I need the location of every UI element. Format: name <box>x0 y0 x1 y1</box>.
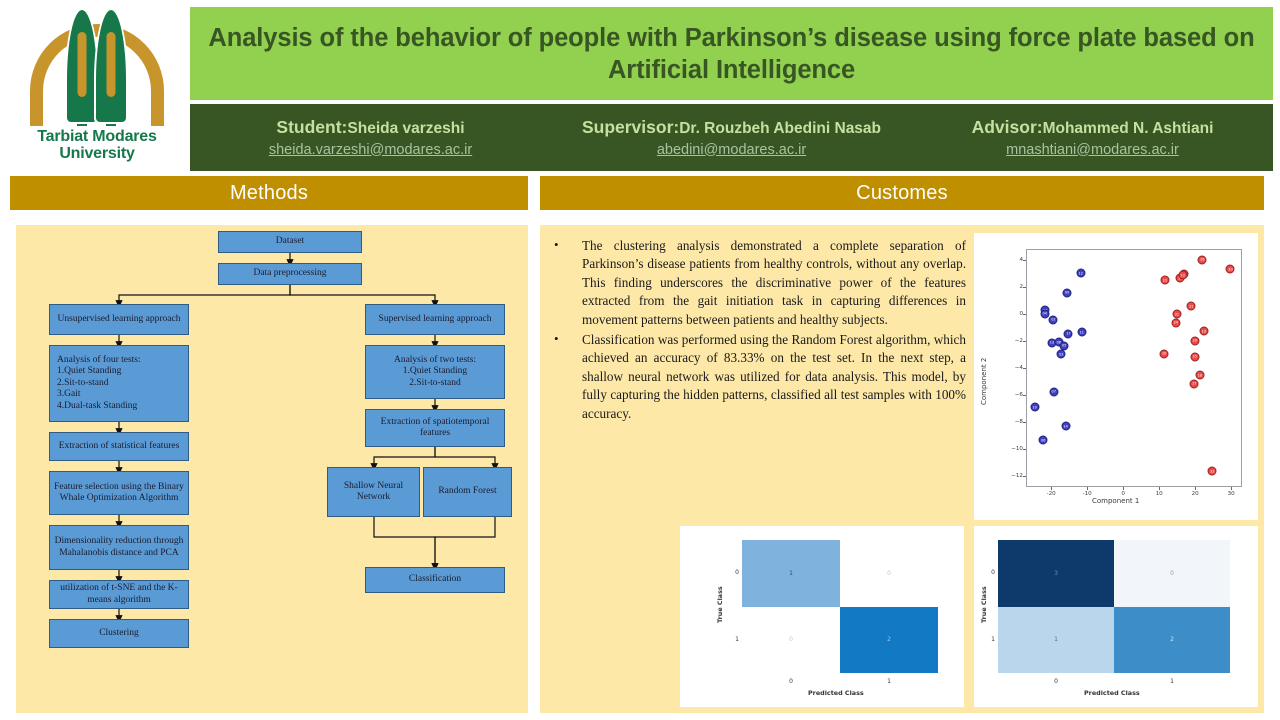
scatter-ytick-mark <box>1023 476 1026 477</box>
author-supervisor-email[interactable]: abedini@modares.ac.ir <box>555 140 908 160</box>
scatter-xtick-mark <box>1123 487 1124 490</box>
scatter-point: 09 <box>1063 288 1072 297</box>
flow-node-preprocessing-label: Data preprocessing <box>253 268 326 280</box>
scatter-point: 07 <box>1049 387 1058 396</box>
scatter-point: 04 <box>1040 309 1049 318</box>
flow-node-spatiotemporal-features[interactable]: Extraction of spatiotemporal features <box>365 409 505 447</box>
flow-node-shallow-neural-network-label: Shallow Neural Network <box>331 481 416 504</box>
flow-node-feature-selection-bwoa[interactable]: Feature selection using the Binary Whale… <box>49 471 189 515</box>
scatter-ylabel: Component 2 <box>980 358 988 405</box>
flow-node-clustering-label: Clustering <box>99 628 139 640</box>
author-supervisor-name: Dr. Rouzbeh Abedini <box>679 120 830 137</box>
scatter-point: 22 <box>1160 276 1169 285</box>
scatter-ytick-mark <box>1023 287 1026 288</box>
flow-node-preprocessing[interactable]: Data preprocessing <box>218 263 362 285</box>
scatter-point: 24 <box>1171 318 1180 327</box>
scatter-point: 29 <box>1190 336 1199 345</box>
scatter-ytick-mark <box>1023 395 1026 396</box>
section-header-methods-label: Methods <box>230 182 308 205</box>
authors-bar: Student:Sheida varzeshi sheida.varzeshi@… <box>190 104 1273 171</box>
page-title: Analysis of the behavior of people with … <box>207 22 1257 86</box>
flow-node-random-forest[interactable]: Random Forest <box>423 467 512 517</box>
scatter-point: 10 <box>1030 403 1039 412</box>
cm-ytick: 0 <box>730 569 739 576</box>
scatter-point: 03 <box>1057 350 1066 359</box>
scatter-xtick: -20 <box>1044 491 1058 497</box>
scatter-plot-card: Component 1 Component 2 -20-100102030420… <box>974 233 1258 520</box>
section-header-customes-label: Customes <box>856 182 948 205</box>
logo-text: Tarbiat Modares University <box>37 128 156 162</box>
scatter-xlabel: Component 1 <box>1092 497 1139 505</box>
scatter-ytick: −8 <box>1007 419 1023 425</box>
scatter-ytick-mark <box>1023 314 1026 315</box>
author-advisor-line: Advisor:Mohammed N. Ashtiani <box>916 116 1269 140</box>
customes-panel: The clustering analysis demonstrated a c… <box>540 225 1264 713</box>
cm-ytick: 0 <box>986 569 995 576</box>
cm1-ylabel: True Class <box>716 586 724 623</box>
logo-mark-icon <box>22 6 172 126</box>
flow-node-four-tests-line5: 4.Dual-task Standing <box>57 401 185 413</box>
cm-xtick: 0 <box>1051 678 1061 685</box>
flow-node-dataset-label: Dataset <box>276 236 305 248</box>
cm-cell: 0 <box>840 540 938 607</box>
author-advisor-email[interactable]: mnashtiani@modares.ac.ir <box>916 140 1269 160</box>
cm1-xlabel: Predicted Class <box>808 689 864 697</box>
author-advisor-name-suffix: N. Ashtiani <box>1129 120 1214 137</box>
flow-node-dimensionality-reduction-label: Dimensionality reduction through Mahalan… <box>53 536 185 559</box>
cm-cell: 1 <box>998 607 1114 674</box>
scatter-point: 30 <box>1226 265 1235 274</box>
cm2-xlabel: Predicted Class <box>1084 689 1140 697</box>
poster-title-bar: Analysis of the behavior of people with … <box>190 7 1273 100</box>
scatter-point: 17 <box>1190 379 1199 388</box>
scatter-ytick: 2 <box>1007 284 1023 290</box>
scatter-point: 23 <box>1178 271 1187 280</box>
scatter-ytick: −4 <box>1007 365 1023 371</box>
cm-xtick: 1 <box>884 678 894 685</box>
flow-node-dimensionality-reduction[interactable]: Dimensionality reduction through Mahalan… <box>49 525 189 570</box>
flow-node-supervised[interactable]: Supervised learning approach <box>365 304 505 335</box>
scatter-plot-frame <box>1026 249 1242 487</box>
scatter-point: 20 <box>1160 349 1169 358</box>
flow-node-clustering[interactable]: Clustering <box>49 619 189 648</box>
scatter-ytick: −12 <box>1007 473 1023 479</box>
finding-2-text: Classification was performed using the R… <box>582 332 966 421</box>
cm2-ylabel: True Class <box>980 586 988 623</box>
confusion-matrix-random-forest-card: 1002 0101 Predicted Class True Class <box>680 526 964 707</box>
methods-panel: Dataset Data preprocessing Unsupervised … <box>16 225 528 713</box>
cm-cell: 3 <box>998 540 1114 607</box>
scatter-xtick-mark <box>1195 487 1196 490</box>
flow-node-feature-selection-bwoa-label: Feature selection using the Binary Whale… <box>53 482 185 505</box>
author-advisor: Advisor:Mohammed N. Ashtiani mnashtiani@… <box>912 116 1273 160</box>
flow-node-two-tests-line2: 1.Quiet Standing <box>403 366 467 378</box>
scatter-xtick-mark <box>1051 487 1052 490</box>
flow-node-unsupervised-label: Unsupervised learning approach <box>58 314 181 326</box>
flow-node-random-forest-label: Random Forest <box>438 486 496 498</box>
author-supervisor-name-suffix: Nasab <box>830 120 881 137</box>
author-supervisor: Supervisor:Dr. Rouzbeh Abedini Nasab abe… <box>551 116 912 160</box>
scatter-ytick: 0 <box>1007 311 1023 317</box>
scatter-ytick: −10 <box>1007 446 1023 452</box>
cm-cell: 2 <box>840 607 938 674</box>
flow-node-supervised-label: Supervised learning approach <box>379 314 492 326</box>
author-supervisor-role: Supervisor: <box>582 117 679 137</box>
scatter-point: 26 <box>1198 255 1207 264</box>
logo-text-line1: Tarbiat Modares <box>37 128 156 145</box>
cm-ytick: 1 <box>730 636 739 643</box>
scatter-xtick: -10 <box>1080 491 1094 497</box>
scatter-ytick-mark <box>1023 449 1026 450</box>
scatter-point: 17 <box>1064 329 1073 338</box>
cm-cell: 0 <box>742 607 840 674</box>
scatter-ytick-mark <box>1023 422 1026 423</box>
tarbiat-modares-logo: Tarbiat Modares University <box>8 6 186 171</box>
flow-node-dataset[interactable]: Dataset <box>218 231 362 253</box>
author-student-email[interactable]: sheida.varzeshi@modares.ac.ir <box>194 140 547 160</box>
scatter-point: 32 <box>1208 467 1217 476</box>
logo-text-line2: University <box>37 145 156 162</box>
scatter-point: 25 <box>1190 352 1199 361</box>
cm-xtick: 1 <box>1167 678 1177 685</box>
finding-1-text: The clustering analysis demonstrated a c… <box>582 238 966 327</box>
section-header-customes: Customes <box>540 176 1264 210</box>
author-supervisor-line: Supervisor:Dr. Rouzbeh Abedini Nasab <box>555 116 908 140</box>
methodology-flowchart: Dataset Data preprocessing Unsupervised … <box>16 225 528 713</box>
author-advisor-role: Advisor: <box>972 117 1043 137</box>
flow-node-statistical-features-label: Extraction of statistical features <box>59 441 180 453</box>
flow-node-classification[interactable]: Classification <box>365 567 505 593</box>
flow-node-statistical-features[interactable]: Extraction of statistical features <box>49 432 189 461</box>
author-student-role: Student: <box>276 117 347 137</box>
flow-node-four-tests-line2: 1.Quiet Standing <box>57 366 185 378</box>
author-student-name: Sheida varzeshi <box>347 120 464 137</box>
scatter-point: 19 <box>1199 327 1208 336</box>
flow-node-tsne-kmeans-label: utilization of t-SNE and the K-means alg… <box>53 583 185 606</box>
scatter-point: 06 <box>1039 436 1048 445</box>
logo-wheat-right-icon <box>94 8 128 124</box>
scatter-ytick-mark <box>1023 341 1026 342</box>
list-item: The clustering analysis demonstrated a c… <box>548 237 966 329</box>
scatter-point: 18 <box>1195 371 1204 380</box>
scatter-point: 11 <box>1077 328 1086 337</box>
flow-node-spatiotemporal-features-label: Extraction of spatiotemporal features <box>369 417 501 440</box>
scatter-xtick-mark <box>1159 487 1160 490</box>
flow-node-two-tests-line1: Analysis of two tests: <box>394 355 476 367</box>
flow-node-shallow-neural-network[interactable]: Shallow Neural Network <box>327 467 420 517</box>
flow-node-two-tests-line3: 2.Sit-to-stand <box>409 378 460 390</box>
scatter-point: 14 <box>1061 422 1070 431</box>
flow-node-two-tests[interactable]: Analysis of two tests: 1.Quiet Standing … <box>365 345 505 399</box>
cm-cell: 1 <box>742 540 840 607</box>
list-item: Classification was performed using the R… <box>548 331 966 423</box>
scatter-xtick: 30 <box>1224 491 1238 497</box>
scatter-xtick: 0 <box>1116 491 1130 497</box>
section-header-methods: Methods <box>10 176 528 210</box>
cm-cell: 0 <box>1114 540 1230 607</box>
scatter-xtick-mark <box>1087 487 1088 490</box>
cm-cell: 2 <box>1114 607 1230 674</box>
scatter-ytick: −2 <box>1007 338 1023 344</box>
scatter-point: 12 <box>1076 269 1085 278</box>
scatter-ytick: 4 <box>1007 257 1023 263</box>
scatter-ytick: −6 <box>1007 392 1023 398</box>
scatter-xtick: 10 <box>1152 491 1166 497</box>
flow-node-tsne-kmeans[interactable]: utilization of t-SNE and the K-means alg… <box>49 580 189 609</box>
author-student: Student:Sheida varzeshi sheida.varzeshi@… <box>190 116 551 160</box>
flow-node-unsupervised[interactable]: Unsupervised learning approach <box>49 304 189 335</box>
scatter-point: 02 <box>1049 315 1058 324</box>
flow-node-four-tests-line1: Analysis of four tests: <box>57 355 185 367</box>
scatter-ytick-mark <box>1023 260 1026 261</box>
flow-node-four-tests[interactable]: Analysis of four tests: 1.Quiet Standing… <box>49 345 189 422</box>
author-advisor-name: Mohammed <box>1043 120 1129 137</box>
scatter-point: 05 <box>1060 341 1069 350</box>
scatter-point: 21 <box>1187 302 1196 311</box>
flow-node-classification-label: Classification <box>409 574 461 586</box>
confusion-matrix-shallow-nn-card: 3012 0101 Predicted Class True Class <box>974 526 1258 707</box>
flow-node-four-tests-line3: 2.Sit-to-stand <box>57 378 185 390</box>
cm-xtick: 0 <box>786 678 796 685</box>
scatter-xtick: 20 <box>1188 491 1202 497</box>
cm-ytick: 1 <box>986 636 995 643</box>
scatter-xtick-mark <box>1231 487 1232 490</box>
scatter-ytick-mark <box>1023 368 1026 369</box>
poster-root: Tarbiat Modares University Analysis of t… <box>0 0 1280 720</box>
findings-list: The clustering analysis demonstrated a c… <box>548 237 966 425</box>
flow-node-four-tests-line4: 3.Gait <box>57 389 185 401</box>
author-student-line: Student:Sheida varzeshi <box>194 116 547 140</box>
